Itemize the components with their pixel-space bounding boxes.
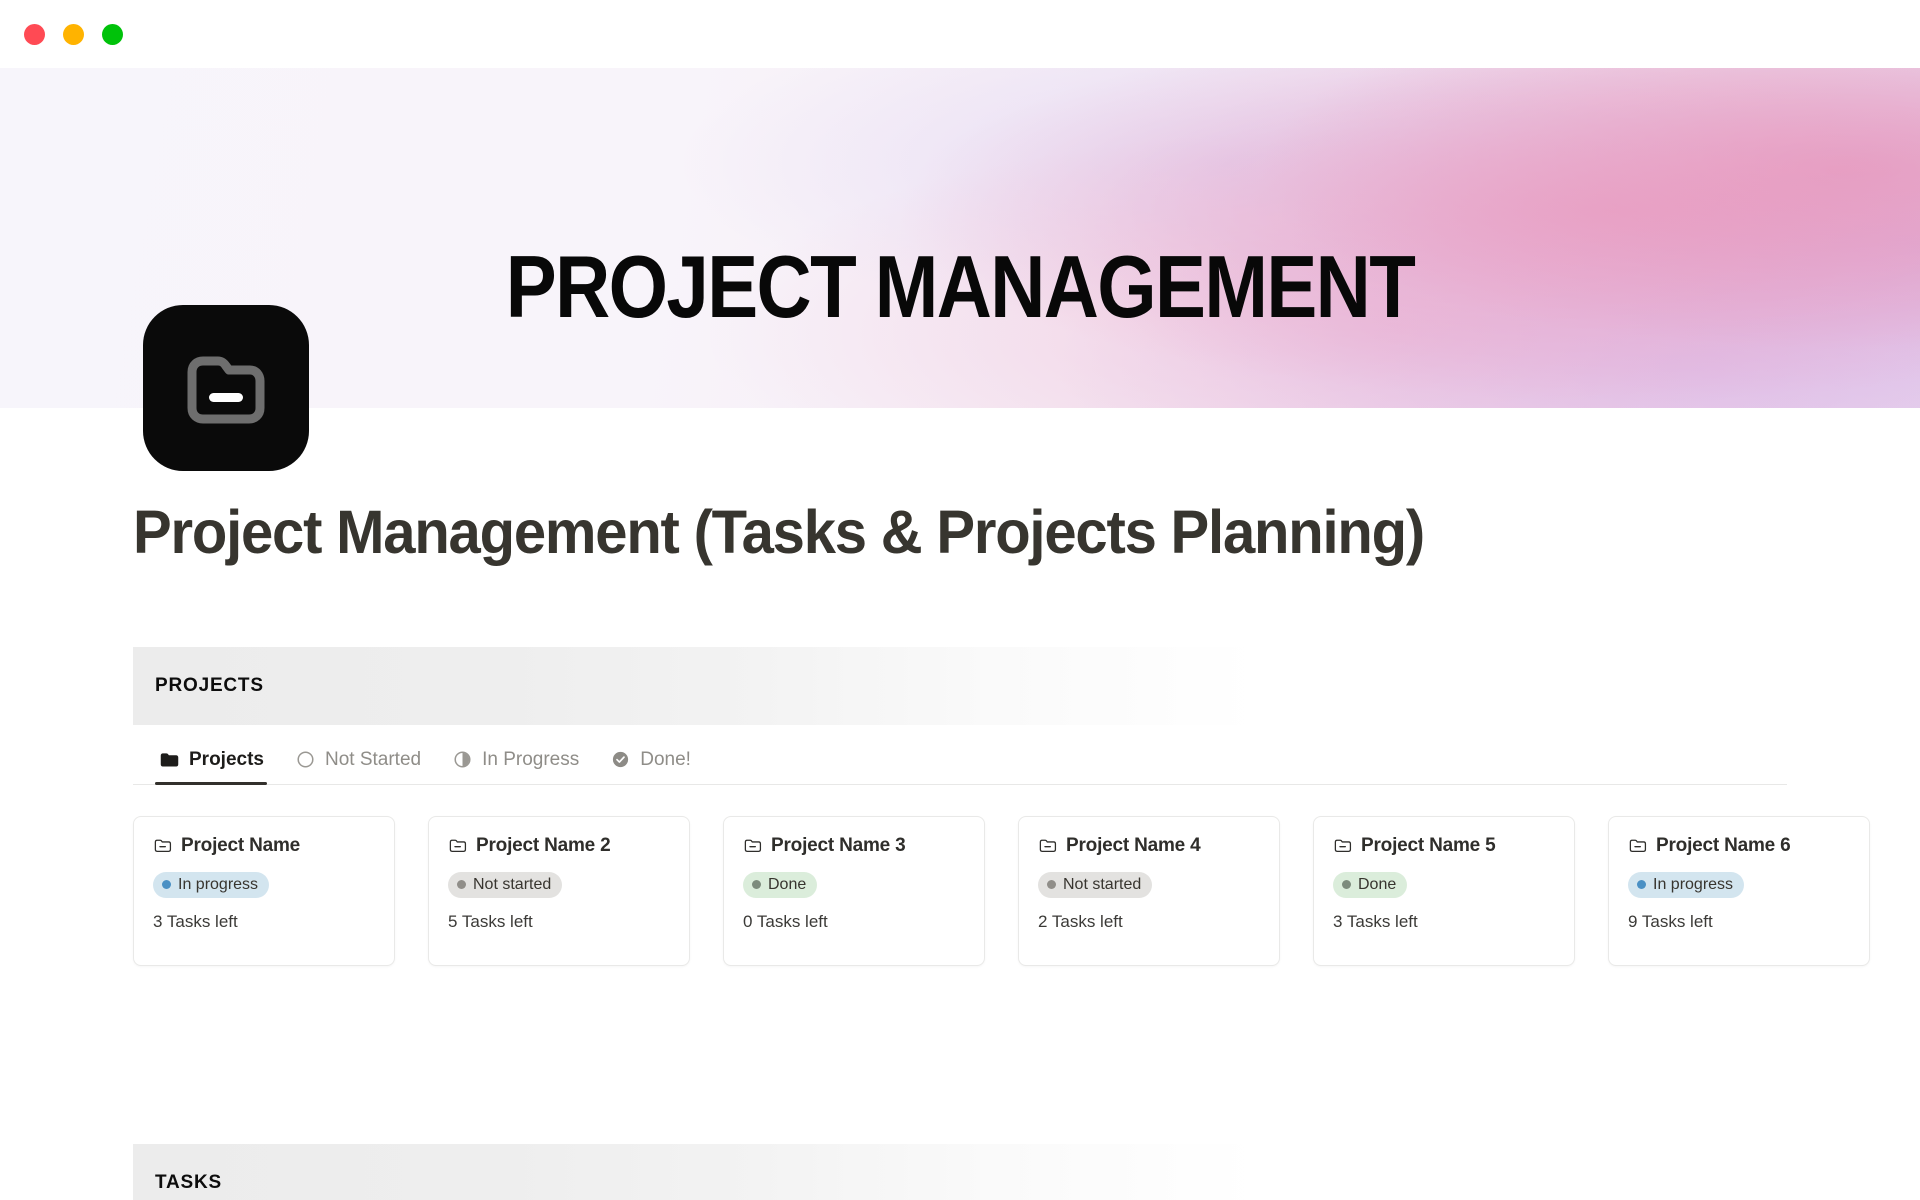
- status-label: Not started: [473, 876, 551, 894]
- clock-half-icon: [452, 749, 473, 770]
- tasks-left-label: 5 Tasks left: [448, 912, 670, 932]
- project-card[interactable]: Project Name 2 Not started 5 Tasks left: [428, 816, 690, 966]
- page-content: Project Management (Tasks & Projects Pla…: [0, 498, 1920, 1200]
- tab-projects[interactable]: Projects: [155, 749, 281, 784]
- project-card-title: Project Name 6: [1628, 835, 1850, 857]
- tasks-section-label: TASKS: [155, 1172, 222, 1194]
- tasks-left-label: 9 Tasks left: [1628, 912, 1850, 932]
- project-card-title: Project Name: [153, 835, 375, 857]
- tab-in-progress-label: In Progress: [482, 749, 579, 771]
- status-dot: [1637, 880, 1646, 889]
- section-spacer: [133, 966, 1787, 1062]
- folder-minus-outline-icon: [743, 836, 762, 855]
- folder-minus-outline-icon: [1038, 836, 1057, 855]
- circle-empty-icon: [295, 749, 316, 770]
- projects-tabs: Projects Not Started In Progress: [133, 729, 1787, 785]
- project-card-name: Project Name 3: [771, 835, 906, 857]
- folder-minus-glyph: [178, 340, 274, 436]
- status-badge: Not started: [448, 872, 562, 898]
- project-card[interactable]: Project Name 6 In progress 9 Tasks left: [1608, 816, 1870, 966]
- project-card-name: Project Name 4: [1066, 835, 1201, 857]
- folder-minus-outline-icon: [1628, 836, 1647, 855]
- status-dot: [457, 880, 466, 889]
- tab-done[interactable]: Done!: [596, 749, 708, 784]
- tasks-section-banner: TASKS: [133, 1144, 1787, 1200]
- folder-filled-icon: [159, 749, 180, 770]
- maximize-button[interactable]: [102, 24, 123, 45]
- projects-card-list: Project Name In progress 3 Tasks left Pr…: [133, 816, 1787, 966]
- status-label: In progress: [178, 876, 258, 894]
- projects-section-banner: PROJECTS: [133, 647, 1787, 725]
- project-card-name: Project Name 2: [476, 835, 611, 857]
- tasks-left-label: 2 Tasks left: [1038, 912, 1260, 932]
- tasks-left-label: 3 Tasks left: [1333, 912, 1555, 932]
- status-label: In progress: [1653, 876, 1733, 894]
- status-badge: In progress: [153, 872, 269, 898]
- project-card-title: Project Name 5: [1333, 835, 1555, 857]
- folder-minus-outline-icon: [1333, 836, 1352, 855]
- status-label: Done: [1358, 876, 1396, 894]
- tab-not-started-label: Not Started: [325, 749, 421, 771]
- status-dot: [162, 880, 171, 889]
- window-controls: [24, 24, 123, 45]
- project-card-name: Project Name 6: [1656, 835, 1791, 857]
- status-badge: Done: [743, 872, 817, 898]
- tasks-left-label: 3 Tasks left: [153, 912, 375, 932]
- project-card-name: Project Name 5: [1361, 835, 1496, 857]
- status-label: Done: [768, 876, 806, 894]
- project-card[interactable]: Project Name 4 Not started 2 Tasks left: [1018, 816, 1280, 966]
- project-card[interactable]: Project Name 3 Done 0 Tasks left: [723, 816, 985, 966]
- project-card-title: Project Name 2: [448, 835, 670, 857]
- minimize-button[interactable]: [63, 24, 84, 45]
- status-badge: Not started: [1038, 872, 1152, 898]
- project-card[interactable]: Project Name 5 Done 3 Tasks left: [1313, 816, 1575, 966]
- tab-projects-label: Projects: [189, 749, 264, 771]
- status-dot: [1047, 880, 1056, 889]
- project-card-name: Project Name: [181, 835, 300, 857]
- projects-section-label: PROJECTS: [155, 675, 264, 697]
- status-badge: Done: [1333, 872, 1407, 898]
- status-badge: In progress: [1628, 872, 1744, 898]
- folder-minus-outline-icon: [153, 836, 172, 855]
- page-title: Project Management (Tasks & Projects Pla…: [133, 498, 1787, 569]
- status-dot: [1342, 880, 1351, 889]
- folder-minus-icon[interactable]: [143, 305, 309, 471]
- tab-done-label: Done!: [640, 749, 691, 771]
- folder-minus-outline-icon: [448, 836, 467, 855]
- check-circle-icon: [610, 749, 631, 770]
- project-card-title: Project Name 3: [743, 835, 965, 857]
- close-button[interactable]: [24, 24, 45, 45]
- tasks-left-label: 0 Tasks left: [743, 912, 965, 932]
- window-titlebar: [0, 0, 1920, 68]
- tab-not-started[interactable]: Not Started: [281, 749, 438, 784]
- tab-in-progress[interactable]: In Progress: [438, 749, 596, 784]
- project-card-title: Project Name 4: [1038, 835, 1260, 857]
- status-dot: [752, 880, 761, 889]
- status-label: Not started: [1063, 876, 1141, 894]
- project-card[interactable]: Project Name In progress 3 Tasks left: [133, 816, 395, 966]
